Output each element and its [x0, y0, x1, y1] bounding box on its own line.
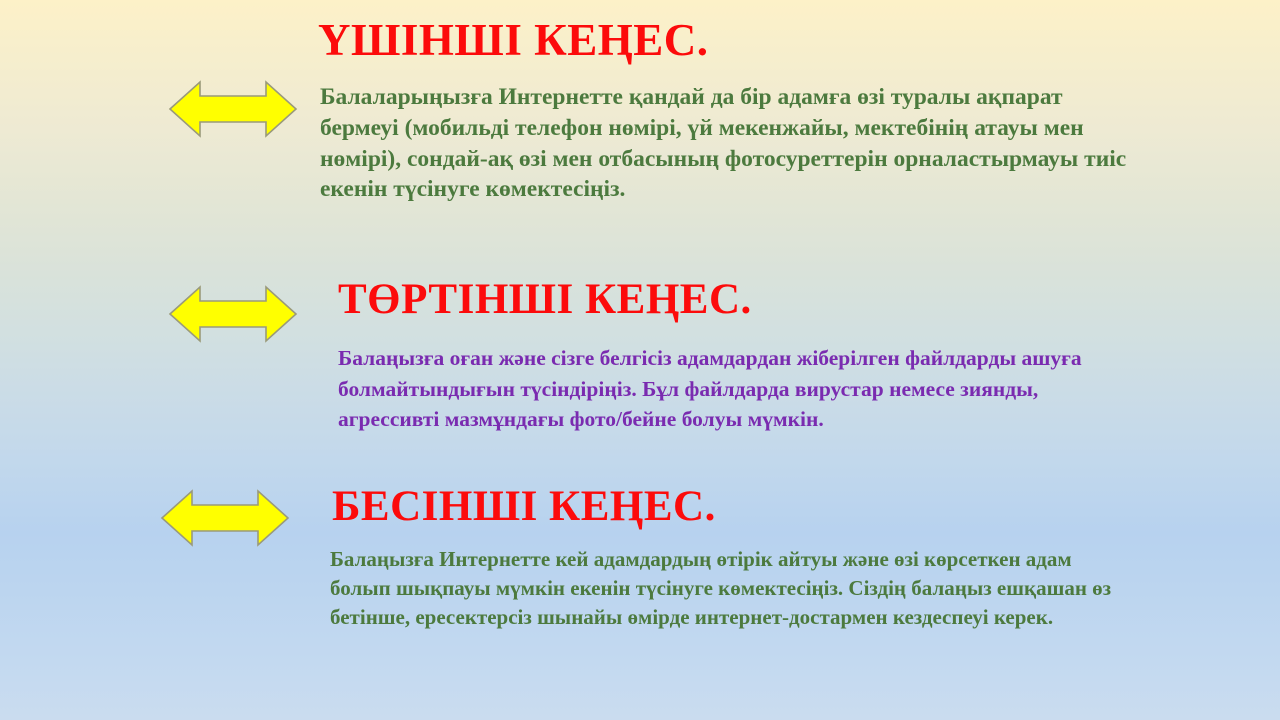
slide-canvas: ҮШІНШІ КЕҢЕС. Балаларыңызға Интернетте қ… — [0, 0, 1280, 720]
body-line: Балаңызға оған және сізге белгісіз адамд… — [338, 343, 1243, 374]
body-line: Балаңызға Интернетте кей адамдардың өтір… — [330, 545, 1210, 574]
body-line: болмайтындығын түсіндіріңіз. Бұл файлдар… — [338, 374, 1243, 405]
section-body-fifth: Балаңызға Интернетте кей адамдардың өтір… — [330, 545, 1210, 632]
body-line: бермеуі (мобильді телефон нөмірі, үй мек… — [320, 113, 1255, 144]
section-heading-third: ҮШІНШІ КЕҢЕС. — [318, 18, 709, 63]
section-body-third: Балаларыңызға Интернетте қандай да бір а… — [320, 82, 1255, 205]
double-arrow-horizontal-icon — [168, 283, 298, 345]
section-heading-fifth: БЕСІНШІ КЕҢЕС. — [332, 485, 716, 528]
section-heading-fourth: ТӨРТІНШІ КЕҢЕС. — [338, 278, 752, 321]
body-line: болып шықпауы мүмкін екенін түсінуге көм… — [330, 574, 1210, 603]
section-body-fourth: Балаңызға оған және сізге белгісіз адамд… — [338, 343, 1243, 435]
double-arrow-horizontal-icon — [168, 78, 298, 140]
double-arrow-horizontal-icon — [160, 487, 290, 549]
body-line: нөмірі), сондай-ақ өзі мен отбасының фот… — [320, 144, 1255, 175]
body-line: екенін түсінуге көмектесіңіз. — [320, 174, 1255, 205]
body-line: бетінше, ересектерсіз шынайы өмірде инте… — [330, 603, 1210, 632]
body-line: агрессивті мазмұндағы фото/бейне болуы м… — [338, 404, 1243, 435]
body-line: Балаларыңызға Интернетте қандай да бір а… — [320, 82, 1255, 113]
